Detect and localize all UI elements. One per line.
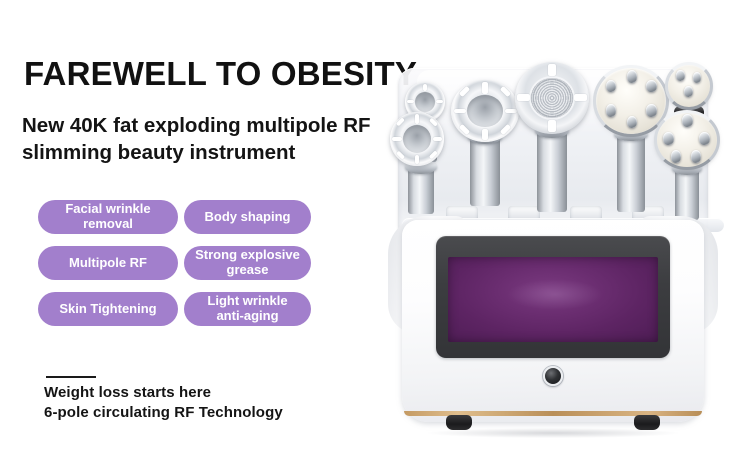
- handpiece-40k-cavitation-head[interactable]: [510, 62, 594, 212]
- rf-pole: [663, 132, 674, 145]
- device-screen[interactable]: [448, 257, 658, 342]
- rf-electrode-face: [667, 64, 711, 108]
- handpiece-stem: [470, 134, 500, 206]
- feature-row: Facial wrinkle removal Body shaping: [38, 200, 328, 234]
- feature-pill-label: Light wrinkle anti-aging: [193, 294, 302, 324]
- footer-tagline: Weight loss starts here 6-pole circulati…: [44, 383, 283, 423]
- handpiece-stem: [617, 132, 645, 212]
- feature-pill-label: Strong explosive grease: [193, 248, 302, 278]
- handpiece-five-pole-rf-head[interactable]: [652, 110, 722, 220]
- footer-line-1: Weight loss starts here: [44, 383, 283, 403]
- cavitation-face: [451, 80, 519, 142]
- cavitation-bowl: [467, 95, 502, 127]
- screen-bezel: [436, 236, 670, 358]
- feature-row: Skin Tightening Light wrinkle anti-aging: [38, 292, 328, 326]
- rf-pole: [691, 150, 702, 163]
- feature-pill-label: Facial wrinkle removal: [47, 202, 169, 232]
- cavitation-bowl: [403, 125, 431, 153]
- cavitation-40k-face: [515, 62, 589, 134]
- cavitation-40k-rings: [531, 78, 572, 118]
- rf-pole: [693, 72, 702, 83]
- feature-pill-label: Body shaping: [205, 210, 291, 225]
- power-button[interactable]: [543, 366, 563, 386]
- rf-pole: [627, 116, 638, 129]
- rf-electrode-face: [656, 112, 718, 168]
- feature-pill-label: Multipole RF: [69, 256, 147, 271]
- feature-pill-light-wrinkle-anti-aging[interactable]: Light wrinkle anti-aging: [184, 292, 311, 326]
- feature-pill-facial-wrinkle-removal[interactable]: Facial wrinkle removal: [38, 200, 178, 234]
- feature-pill-multipole-rf[interactable]: Multipole RF: [38, 246, 178, 280]
- divider-rule: [46, 376, 96, 378]
- device-shadow: [428, 428, 678, 438]
- page-title: FAREWELL TO OBESITY: [24, 57, 417, 90]
- rf-pole: [646, 80, 657, 93]
- device-illustration: [388, 48, 718, 438]
- feature-pill-skin-tightening[interactable]: Skin Tightening: [38, 292, 178, 326]
- rf-pole: [627, 70, 638, 83]
- rf-pole: [682, 114, 693, 127]
- feature-pill-grid: Facial wrinkle removal Body shaping Mult…: [38, 200, 328, 338]
- subheadline: New 40K fat exploding multipole RF slimm…: [22, 112, 402, 166]
- handpiece-stem: [537, 128, 567, 212]
- feature-pill-label: Skin Tightening: [59, 302, 156, 317]
- rf-pole: [671, 150, 682, 163]
- rf-pole: [676, 70, 685, 81]
- feature-pill-body-shaping[interactable]: Body shaping: [184, 200, 311, 234]
- feature-row: Multipole RF Strong explosive grease: [38, 246, 328, 280]
- rf-pole: [699, 132, 710, 145]
- footer-line-2: 6-pole circulating RF Technology: [44, 403, 283, 423]
- product-banner: FAREWELL TO OBESITY New 40K fat explodin…: [0, 0, 750, 454]
- screen-glow: [507, 279, 604, 310]
- rf-pole: [684, 86, 693, 97]
- rf-pole: [606, 104, 617, 117]
- cavitation-face: [390, 112, 444, 166]
- feature-pill-strong-explosive-grease[interactable]: Strong explosive grease: [184, 246, 311, 280]
